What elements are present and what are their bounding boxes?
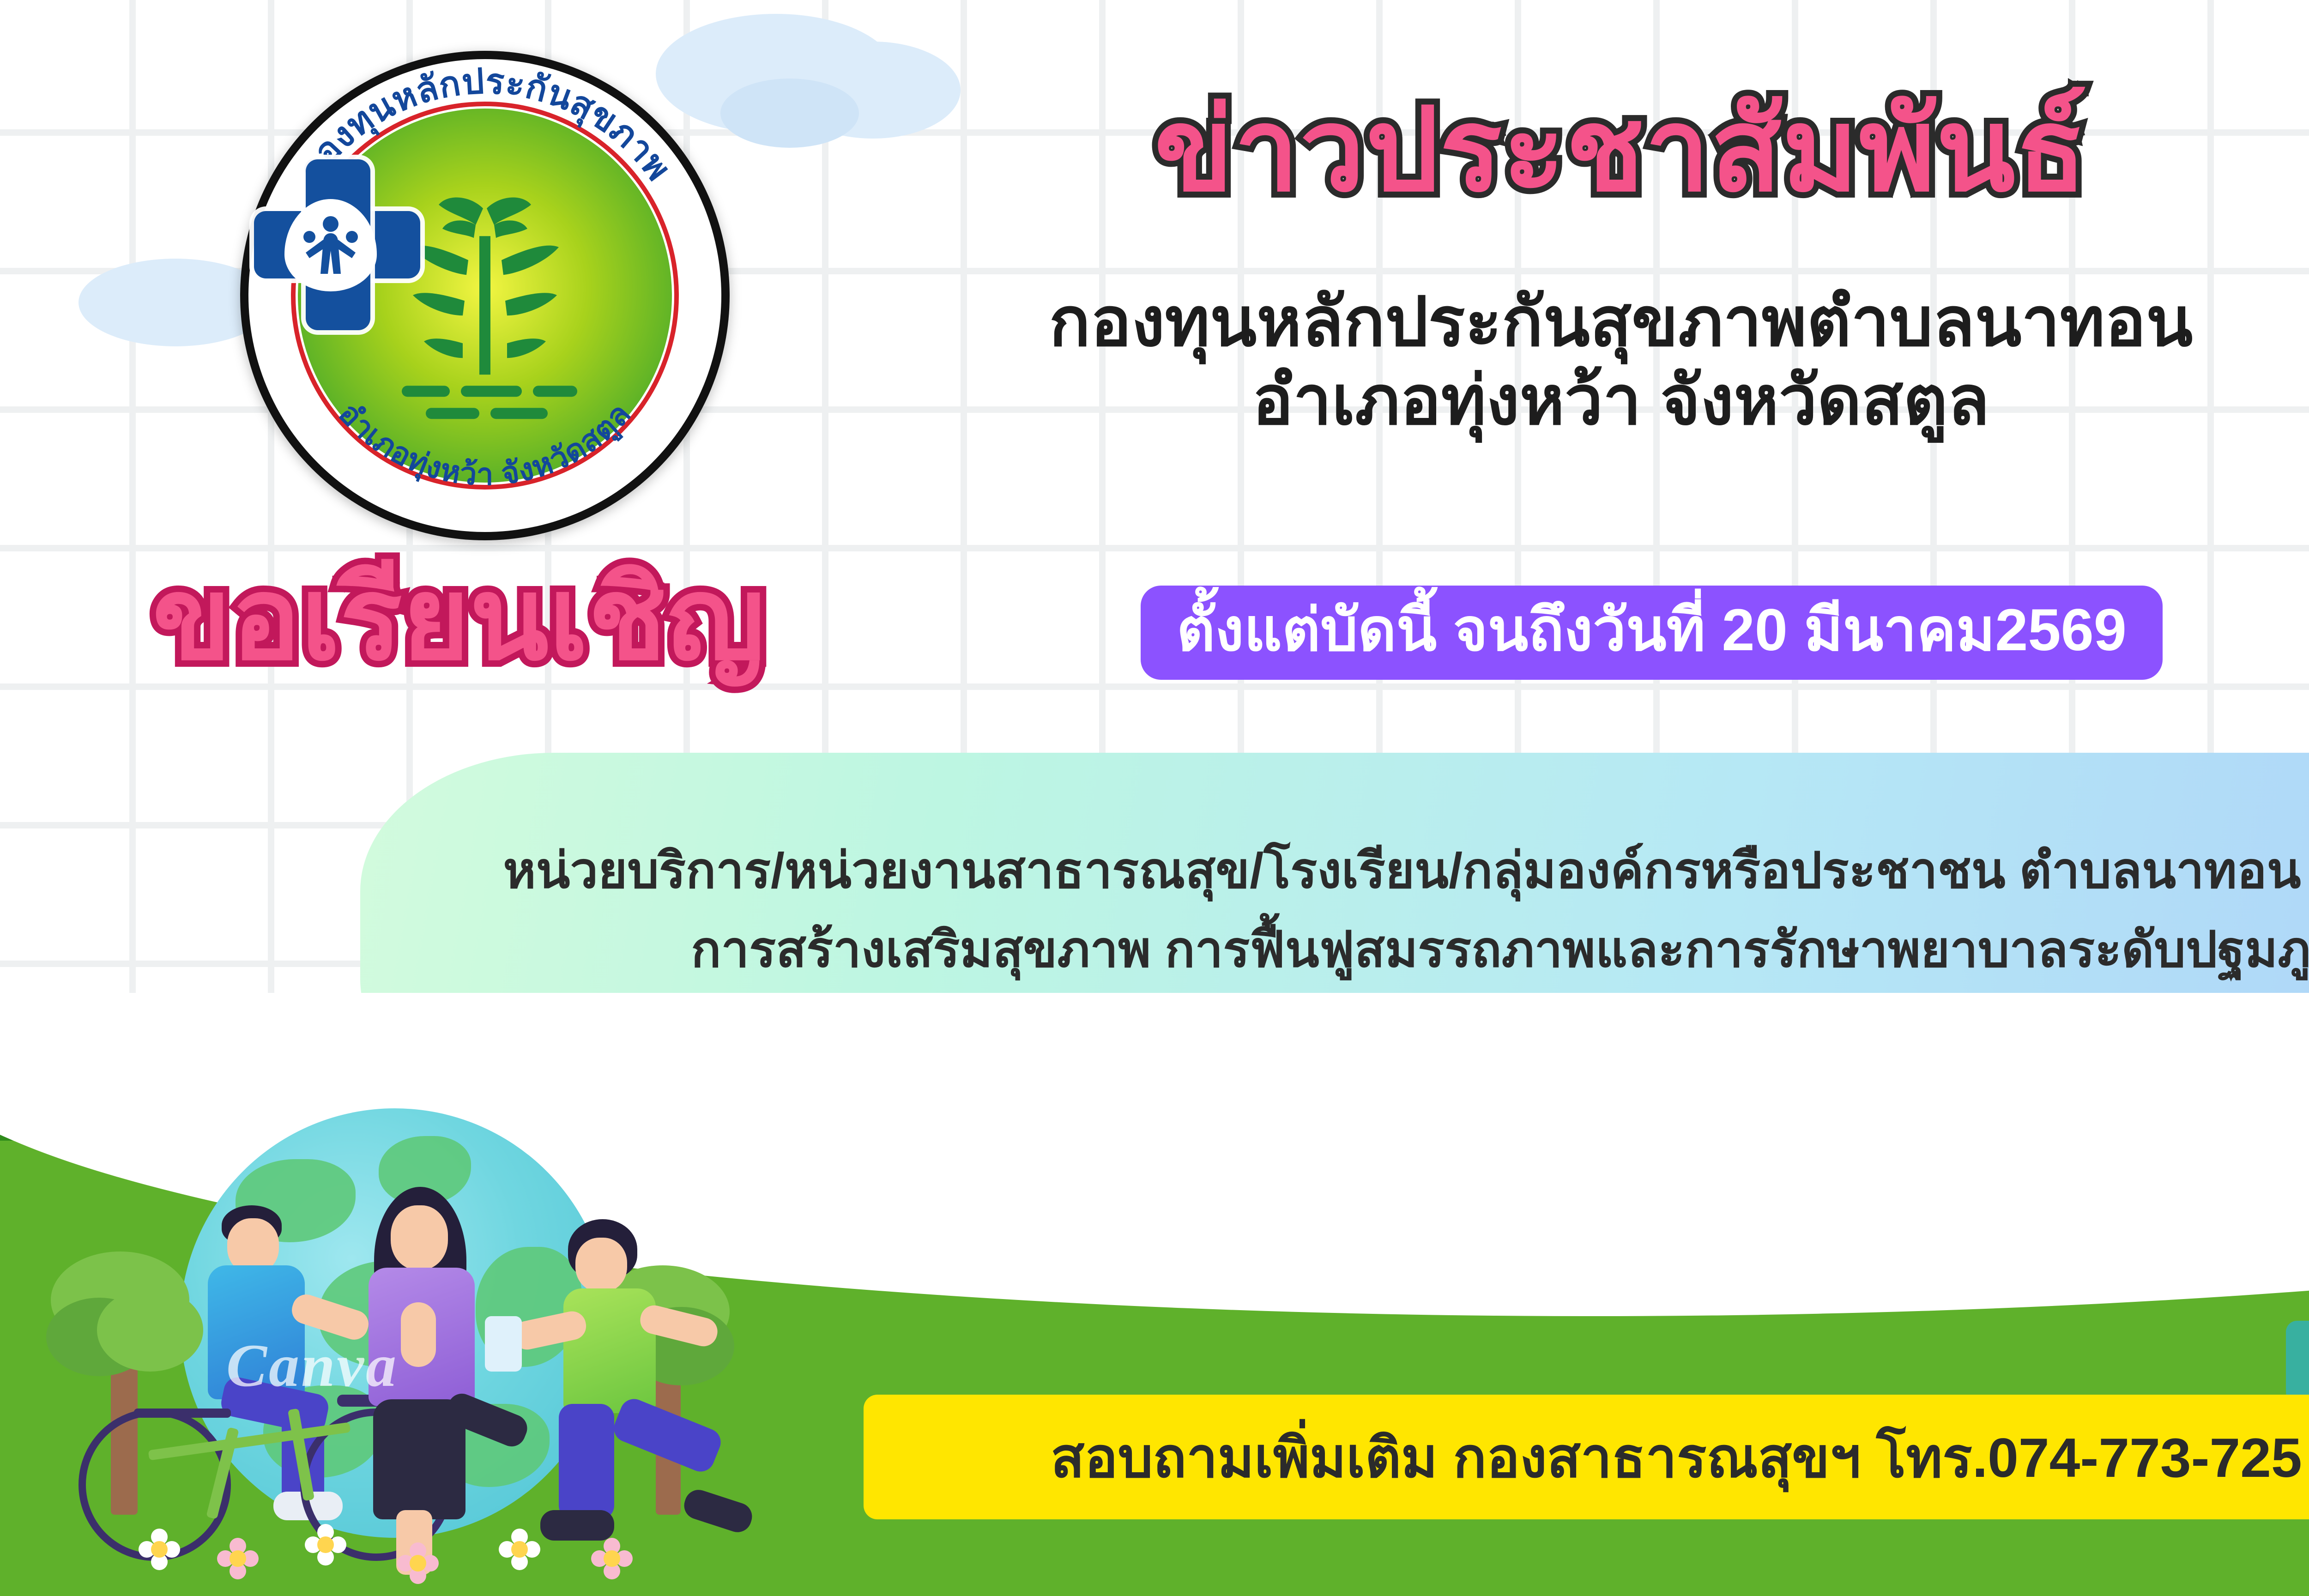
left-logo-seal: กองทุนหลักประกันสุขภาพ อำเภอทุ่งหว้า จัง… (240, 51, 730, 540)
flower-cluster-icon (111, 1505, 711, 1589)
page-title: ข่าวประชาสัมพันธ์ (951, 92, 2291, 208)
contact-banner[interactable]: สอบถามเพิ่มเติม กองสาธารณสุขฯ โทร.074-77… (864, 1395, 2309, 1519)
date-badge: ตั้งแต่บัดนี้ จนถึงวันที่ 20 มีนาคม2569 (1141, 586, 2163, 680)
subtitle-line-2: อำเภอทุ่งหว้า จังหวัดสตูล (905, 365, 2309, 437)
body-line-2: การสร้างเสริมสุขภาพ การฟื้นฟูสมรรถภาพและ… (369, 910, 2309, 989)
invite-headline: ขอเรียนเชิญ (152, 561, 765, 677)
people-figure-icon (298, 213, 363, 282)
cloud-icon (720, 79, 859, 148)
banner-canvas: กองทุนหลักประกันสุขภาพ อำเภอทุ่งหว้า จัง… (0, 0, 2309, 1596)
svg-text:อำเภอทุ่งหว้า จังหวัดสตูล: อำเภอทุ่งหว้า จังหวัดสตูล (332, 396, 637, 491)
body-text: หน่วยบริการ/หน่วยงานสาธารณสุข/โรงเรียน/ก… (369, 831, 2309, 989)
left-illustration: Canva (0, 1053, 785, 1596)
health-cross-with-people-icon (254, 159, 420, 330)
body-line-1: หน่วยบริการ/หน่วยงานสาธารณสุข/โรงเรียน/ก… (369, 831, 2309, 910)
subtitle-line-1: กองทุนหลักประกันสุขภาพตำบลนาทอน (905, 286, 2309, 359)
contact-banner-label: สอบถามเพิ่มเติม กองสาธารณสุขฯ โทร.074-77… (1051, 1413, 2302, 1501)
left-seal-bottom-text: อำเภอทุ่งหว้า จังหวัดสตูล (332, 396, 637, 491)
